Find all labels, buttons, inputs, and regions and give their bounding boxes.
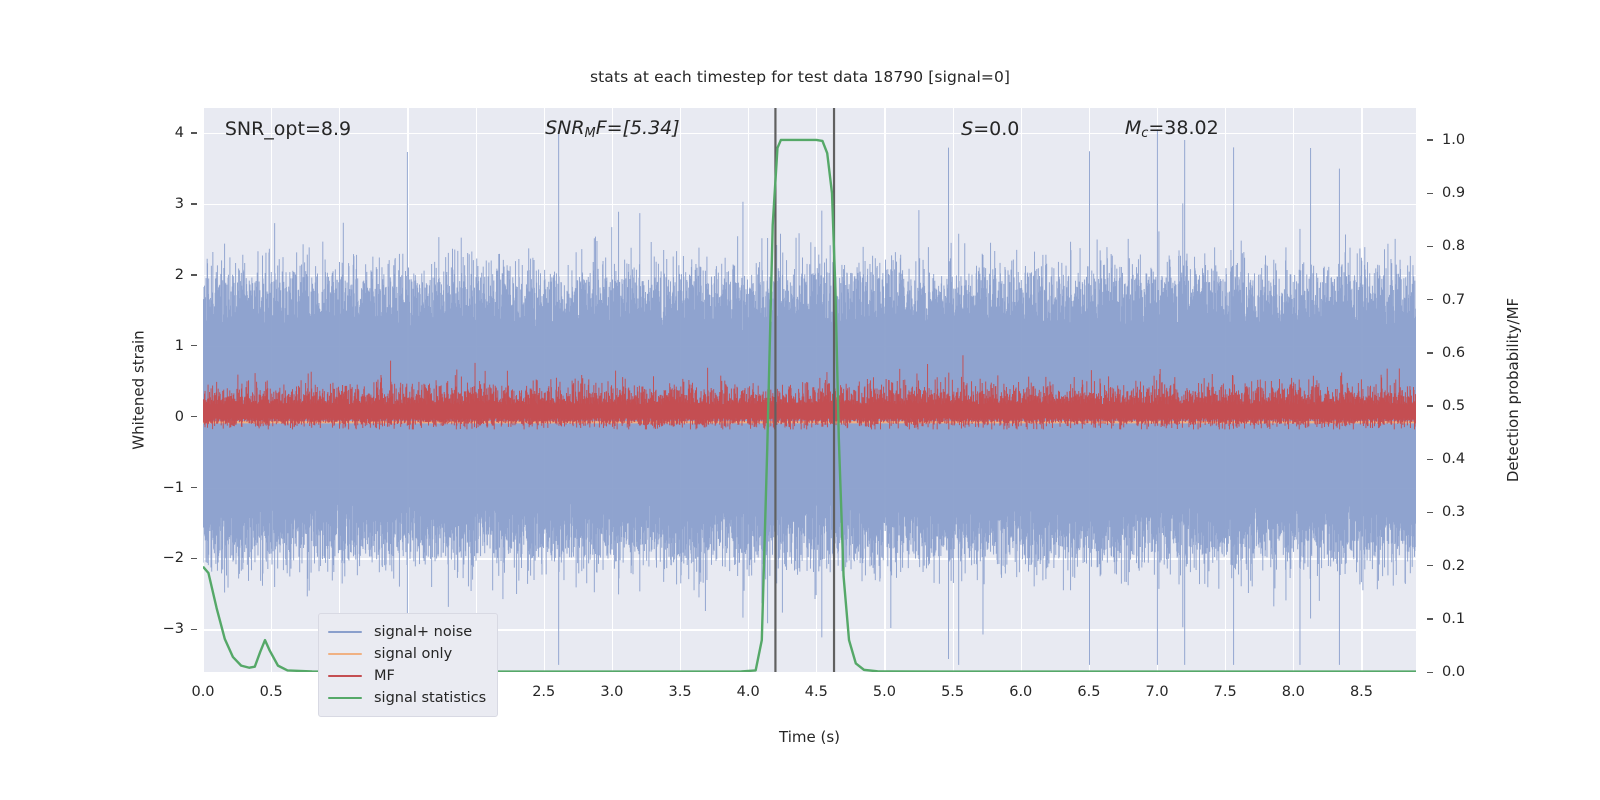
y-tick-mark-right <box>1427 352 1433 353</box>
x-tick-label: 7.5 <box>1214 684 1237 700</box>
y-tick-label-left: −2 <box>140 550 184 566</box>
y-tick-mark-left <box>191 416 197 417</box>
legend-item-label: MF <box>374 668 395 684</box>
y-tick-label-right: 0.9 <box>1442 185 1492 201</box>
y-tick-mark-left <box>191 558 197 559</box>
x-tick-label: 8.0 <box>1282 684 1305 700</box>
page-title: stats at each timestep for test data 187… <box>0 68 1600 86</box>
x-tick-label: 8.5 <box>1350 684 1373 700</box>
x-tick-label: 2.5 <box>532 684 555 700</box>
x-tick-label: 3.5 <box>668 684 691 700</box>
legend-color-swatch <box>328 653 362 656</box>
x-tick-label: 5.5 <box>941 684 964 700</box>
x-tick-label: 5.0 <box>873 684 896 700</box>
y-tick-mark-right <box>1427 459 1433 460</box>
y-tick-mark-right <box>1427 246 1433 247</box>
annotation-snr-mf-suffix: F=[5.34] <box>596 117 680 139</box>
y-tick-mark-right <box>1427 672 1433 673</box>
annotation-snr-opt: SNR_opt=8.9 <box>225 118 351 140</box>
annotation-chirp-mass-prefix: M <box>1125 117 1141 139</box>
annotation-snr-mf-sub: M <box>585 126 596 141</box>
legend-item-label: signal+ noise <box>374 624 472 640</box>
x-tick-label: 4.5 <box>805 684 828 700</box>
annotation-s-suffix: =0.0 <box>973 118 1019 140</box>
annotation-chirp-mass: Mc=38.02 <box>1125 117 1219 141</box>
y-tick-mark-right <box>1427 618 1433 619</box>
x-tick-label: 3.0 <box>600 684 623 700</box>
legend-color-swatch <box>328 631 362 634</box>
y-tick-label-left: 4 <box>140 125 184 141</box>
series-signal-statistics <box>203 108 1416 672</box>
y-axis-label-right: Detection probability/MF <box>1500 108 1526 672</box>
legend-item[interactable]: signal+ noise <box>328 621 486 643</box>
annotation-s-prefix: S <box>961 118 973 140</box>
x-tick-label: 6.0 <box>1009 684 1032 700</box>
x-axis-label: Time (s) <box>203 728 1416 746</box>
y-tick-mark-left <box>191 345 197 346</box>
annotation-chirp-mass-suffix: =38.02 <box>1148 117 1218 139</box>
annotation-chirp-mass-sub: c <box>1141 126 1148 141</box>
x-tick-label: 0.0 <box>191 684 214 700</box>
y-axis-label-left: Whitened strain <box>126 108 152 672</box>
y-tick-label-right: 0.7 <box>1442 292 1492 308</box>
x-tick-label: 0.5 <box>260 684 283 700</box>
y-tick-mark-right <box>1427 405 1433 406</box>
y-tick-label-right: 0.0 <box>1442 664 1492 680</box>
plot-area: SNR_opt=8.9 SNRMF=[5.34] S=0.0 Mc=38.02 <box>203 108 1416 672</box>
legend-item[interactable]: signal only <box>328 643 486 665</box>
y-tick-mark-left <box>191 132 197 133</box>
annotation-snr-mf: SNRMF=[5.34] <box>545 117 680 141</box>
y-tick-mark-right <box>1427 193 1433 194</box>
y-tick-mark-left <box>191 203 197 204</box>
y-tick-label-right: 0.5 <box>1442 398 1492 414</box>
y-tick-label-left: −1 <box>140 480 184 496</box>
x-tick-label: 7.0 <box>1146 684 1169 700</box>
y-axis-label-right-text: Detection probability/MF <box>1504 298 1522 482</box>
y-tick-label-right: 0.2 <box>1442 558 1492 574</box>
x-tick-label: 4.0 <box>737 684 760 700</box>
y-tick-label-right: 0.8 <box>1442 238 1492 254</box>
y-tick-label-left: 2 <box>140 267 184 283</box>
y-tick-label-right: 1.0 <box>1442 132 1492 148</box>
legend-item-label: signal only <box>374 646 452 662</box>
legend-color-swatch <box>328 697 362 700</box>
y-tick-label-right: 0.3 <box>1442 504 1492 520</box>
annotation-snr-opt-text: SNR_opt=8.9 <box>225 118 351 140</box>
y-tick-mark-left <box>191 487 197 488</box>
legend-item[interactable]: signal statistics <box>328 687 486 709</box>
figure: stats at each timestep for test data 187… <box>0 0 1600 800</box>
legend: signal+ noisesignal onlyMFsignal statist… <box>318 613 498 717</box>
y-tick-label-left: 1 <box>140 338 184 354</box>
annotation-snr-mf-prefix: SNR <box>545 117 584 139</box>
y-tick-label-right: 0.4 <box>1442 451 1492 467</box>
y-tick-mark-left <box>191 274 197 275</box>
y-tick-label-left: 3 <box>140 196 184 212</box>
legend-item[interactable]: MF <box>328 665 486 687</box>
y-tick-label-right: 0.6 <box>1442 345 1492 361</box>
y-tick-label-right: 0.1 <box>1442 611 1492 627</box>
x-tick-label: 6.5 <box>1077 684 1100 700</box>
legend-item-label: signal statistics <box>374 690 486 706</box>
annotation-s: S=0.0 <box>961 118 1019 140</box>
legend-color-swatch <box>328 675 362 678</box>
y-tick-mark-right <box>1427 299 1433 300</box>
y-tick-mark-right <box>1427 139 1433 140</box>
y-tick-mark-left <box>191 629 197 630</box>
y-tick-mark-right <box>1427 512 1433 513</box>
y-tick-label-left: −3 <box>140 621 184 637</box>
y-tick-mark-right <box>1427 565 1433 566</box>
y-tick-label-left: 0 <box>140 409 184 425</box>
